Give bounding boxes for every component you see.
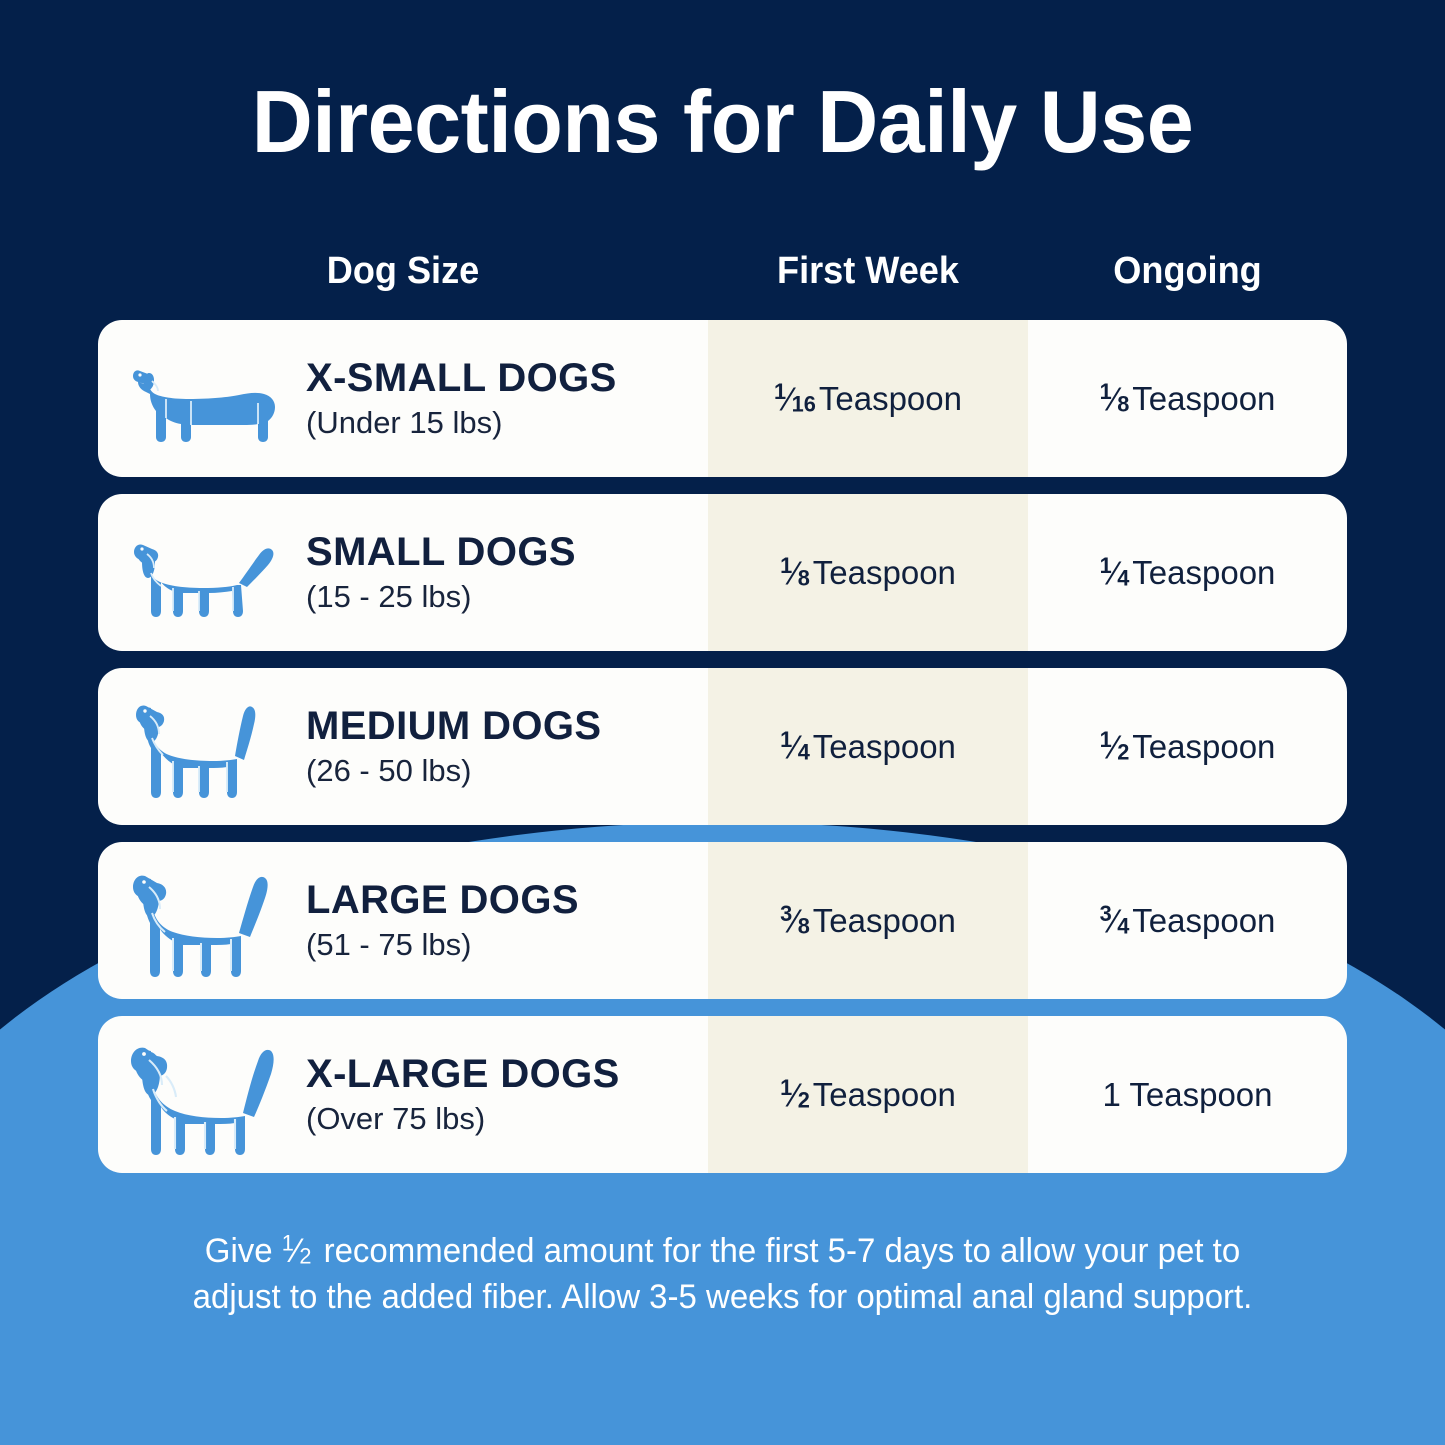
- table-row: MEDIUM DOGS (26 - 50 lbs) 1⁄4Teaspoon 1⁄…: [98, 668, 1347, 825]
- fraction: 1⁄4: [780, 727, 810, 766]
- dog-size-cell: SMALL DOGS (15 - 25 lbs): [98, 494, 708, 651]
- fraction: 1⁄8: [1100, 379, 1130, 418]
- size-weight-range: (26 - 50 lbs): [306, 752, 602, 789]
- column-header-ongoing: Ongoing: [1036, 250, 1339, 293]
- size-name: MEDIUM DOGS: [306, 704, 602, 748]
- fraction: 1⁄16: [774, 379, 816, 418]
- size-name: SMALL DOGS: [306, 530, 576, 574]
- fraction: 1⁄8: [780, 553, 810, 592]
- table-row: LARGE DOGS (51 - 75 lbs) 3⁄8Teaspoon 3⁄4…: [98, 842, 1347, 999]
- footer-line3: optimal anal gland support.: [856, 1278, 1252, 1316]
- dog-size-cell: MEDIUM DOGS (26 - 50 lbs): [98, 668, 708, 825]
- size-weight-range: (51 - 75 lbs): [306, 926, 579, 963]
- column-header-row: Dog Size First Week Ongoing: [98, 240, 1347, 302]
- bloodhound-dog-icon: [98, 1027, 298, 1163]
- dose-unit: Teaspoon: [819, 380, 962, 418]
- first-week-dose: 3⁄8Teaspoon: [708, 842, 1028, 999]
- dog-size-text: MEDIUM DOGS (26 - 50 lbs): [298, 704, 602, 789]
- pointer-dog-icon: [98, 857, 298, 985]
- dose-unit: 1 Teaspoon: [1102, 1076, 1272, 1114]
- dose-unit: Teaspoon: [813, 902, 956, 940]
- column-header-dog-size: Dog Size: [113, 250, 693, 293]
- table-row: X-SMALL DOGS (Under 15 lbs) 1⁄16Teaspoon…: [98, 320, 1347, 477]
- footer-note: Give 1⁄2 recommended amount for the firs…: [167, 1228, 1278, 1320]
- dose-unit: Teaspoon: [1132, 902, 1275, 940]
- size-weight-range: (15 - 25 lbs): [306, 578, 576, 615]
- dose-unit: Teaspoon: [813, 554, 956, 592]
- fraction: 3⁄8: [780, 901, 810, 940]
- beagle-dog-icon: [98, 688, 298, 806]
- fraction: 1⁄2: [1100, 727, 1130, 766]
- dog-size-text: X-SMALL DOGS (Under 15 lbs): [298, 356, 617, 441]
- size-name: LARGE DOGS: [306, 878, 579, 922]
- dog-size-cell: LARGE DOGS (51 - 75 lbs): [98, 842, 708, 999]
- dachshund-dog-icon: [98, 351, 298, 447]
- dog-size-text: LARGE DOGS (51 - 75 lbs): [298, 878, 579, 963]
- basset-hound-dog-icon: [98, 521, 298, 625]
- size-name: X-LARGE DOGS: [306, 1052, 620, 1096]
- table-row: SMALL DOGS (15 - 25 lbs) 1⁄8Teaspoon 1⁄4…: [98, 494, 1347, 651]
- dog-size-cell: X-LARGE DOGS (Over 75 lbs): [98, 1016, 708, 1173]
- size-weight-range: (Over 75 lbs): [306, 1100, 620, 1137]
- dose-unit: Teaspoon: [1132, 554, 1275, 592]
- footer-line1-pre: Give: [205, 1232, 282, 1270]
- column-header-first-week: First Week: [716, 250, 1020, 293]
- ongoing-dose: 1⁄4Teaspoon: [1028, 494, 1347, 651]
- first-week-dose: 1⁄16Teaspoon: [708, 320, 1028, 477]
- ongoing-dose: 1⁄8Teaspoon: [1028, 320, 1347, 477]
- ongoing-dose: 1 Teaspoon: [1028, 1016, 1347, 1173]
- first-week-dose: 1⁄2Teaspoon: [708, 1016, 1028, 1173]
- fraction: 3⁄4: [1100, 901, 1130, 940]
- dog-size-text: X-LARGE DOGS (Over 75 lbs): [298, 1052, 620, 1137]
- dog-size-cell: X-SMALL DOGS (Under 15 lbs): [98, 320, 708, 477]
- footer-line1-post: recommended amount for the first 5-7 day…: [314, 1232, 1075, 1270]
- dog-size-text: SMALL DOGS (15 - 25 lbs): [298, 530, 576, 615]
- dose-unit: Teaspoon: [813, 728, 956, 766]
- table-row: X-LARGE DOGS (Over 75 lbs) 1⁄2Teaspoon 1…: [98, 1016, 1347, 1173]
- fraction: 1⁄2: [282, 1228, 312, 1274]
- fraction: 1⁄4: [1100, 553, 1130, 592]
- first-week-dose: 1⁄8Teaspoon: [708, 494, 1028, 651]
- dose-unit: Teaspoon: [813, 1076, 956, 1114]
- size-name: X-SMALL DOGS: [306, 356, 617, 400]
- fraction: 1⁄2: [780, 1075, 810, 1114]
- dosage-table: X-SMALL DOGS (Under 15 lbs) 1⁄16Teaspoon…: [98, 320, 1347, 1190]
- page-title: Directions for Daily Use: [29, 76, 1416, 168]
- size-weight-range: (Under 15 lbs): [306, 404, 617, 441]
- dose-unit: Teaspoon: [1132, 728, 1275, 766]
- ongoing-dose: 1⁄2Teaspoon: [1028, 668, 1347, 825]
- ongoing-dose: 3⁄4Teaspoon: [1028, 842, 1347, 999]
- dose-unit: Teaspoon: [1132, 380, 1275, 418]
- infographic-canvas: Directions for Daily Use Dog Size First …: [0, 0, 1445, 1445]
- first-week-dose: 1⁄4Teaspoon: [708, 668, 1028, 825]
